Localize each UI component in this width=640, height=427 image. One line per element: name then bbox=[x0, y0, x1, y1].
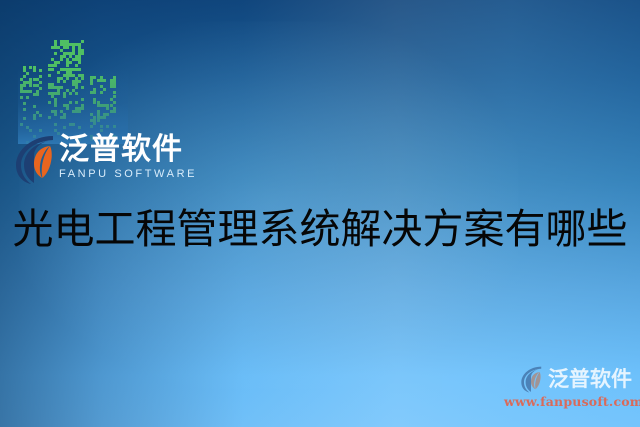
fanpu-emblem-icon bbox=[12, 133, 56, 185]
watermark-brand-row: 泛普软件 bbox=[504, 365, 632, 393]
watermark: 泛普软件 www.fanpusoft.com bbox=[504, 365, 632, 417]
fanpu-emblem-watermark-icon bbox=[516, 365, 546, 393]
watermark-brand-name: 泛普软件 bbox=[548, 367, 632, 391]
promo-banner: 泛普软件 FANPU SOFTWARE 光电工程管理系统解决方案有哪些 泛普软件… bbox=[0, 0, 640, 427]
page-title: 光电工程管理系统解决方案有哪些 bbox=[0, 203, 640, 255]
brand-name-cn: 泛普软件 bbox=[59, 133, 183, 167]
brand-logo: 泛普软件 FANPU SOFTWARE bbox=[12, 133, 197, 185]
brand-name-en: FANPU SOFTWARE bbox=[59, 168, 197, 181]
watermark-url: www.fanpusoft.com bbox=[504, 394, 632, 409]
brand-logo-text: 泛普软件 FANPU SOFTWARE bbox=[59, 133, 197, 181]
